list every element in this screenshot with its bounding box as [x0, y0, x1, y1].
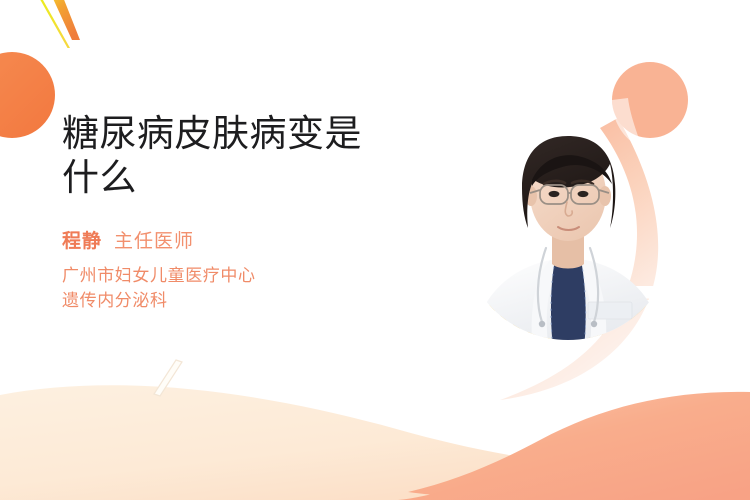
doctor-name: 程静: [62, 231, 102, 252]
doctor-affiliation: 广州市妇女儿童医疗中心 遗传内分泌科: [62, 263, 442, 313]
stethoscope-bell-left: [539, 321, 545, 327]
eye-left: [549, 191, 560, 197]
doctor-video-cover-card: 糖尿病皮肤病变是 什么 程静主任医师 广州市妇女儿童医疗中心 遗传内分泌科: [0, 0, 750, 500]
orange-gradient-stroke: [50, 0, 80, 40]
page-title: 糖尿病皮肤病变是 什么: [62, 112, 442, 200]
orange-circle: [0, 52, 55, 138]
stethoscope-bell-right: [591, 321, 597, 327]
text-block: 糖尿病皮肤病变是 什么 程静主任医师 广州市妇女儿童医疗中心 遗传内分泌科: [62, 112, 442, 313]
ear-right: [599, 186, 611, 206]
doctor-portrait: [462, 108, 674, 360]
doctor-rank: 主任医师: [114, 231, 194, 252]
eye-right: [578, 191, 589, 197]
inner-blouse: [551, 260, 586, 348]
doctor-byline: 程静主任医师: [62, 226, 442, 253]
